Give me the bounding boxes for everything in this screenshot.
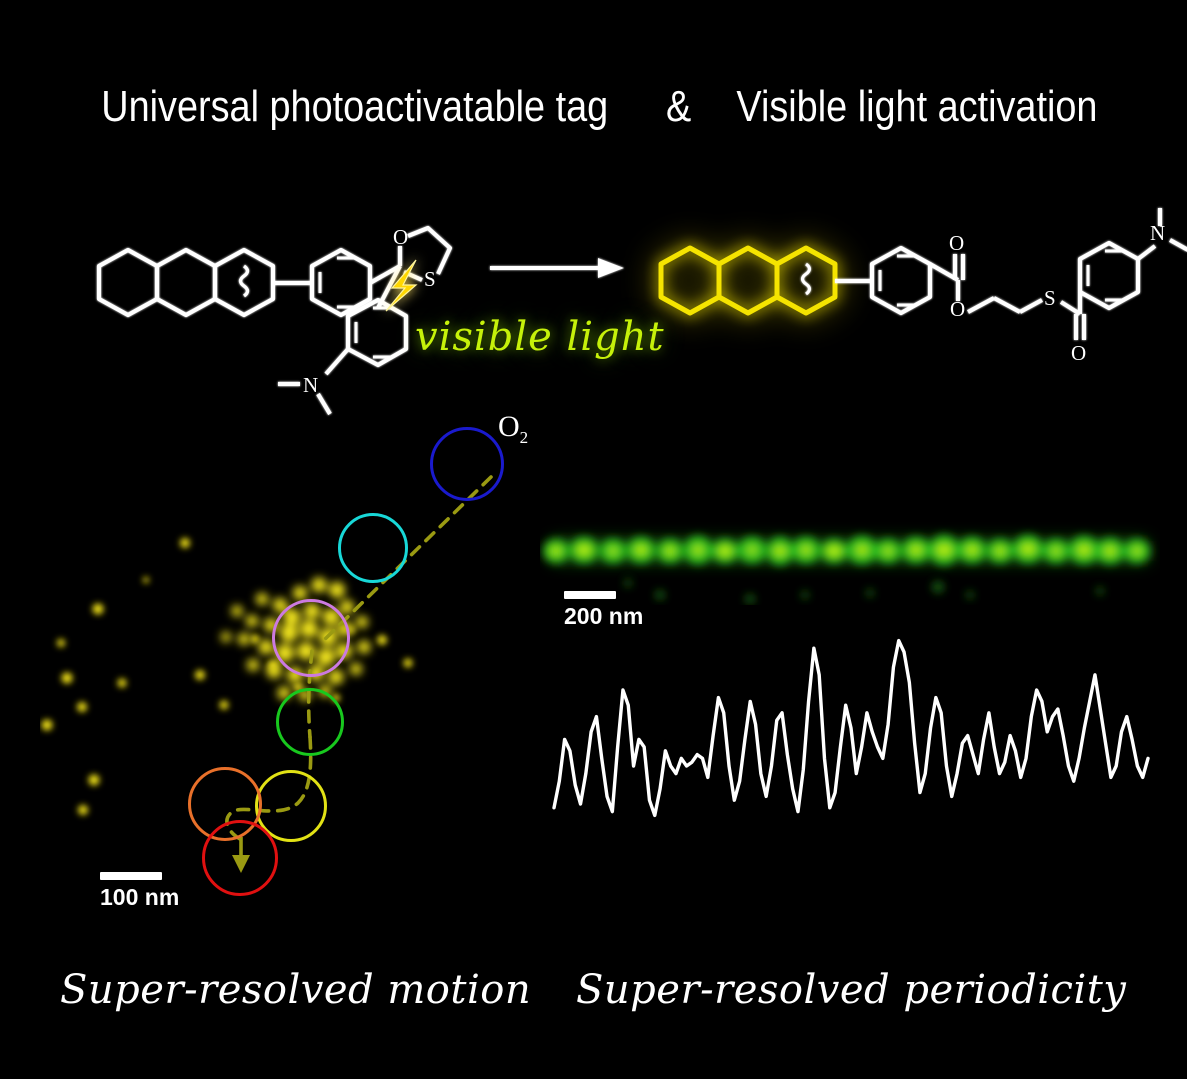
figure-canvas: Universal photoactivatable tag&Visible l… bbox=[0, 0, 1187, 1079]
title-ampersand: & bbox=[654, 82, 703, 132]
reactant-structure bbox=[99, 228, 450, 414]
reactant-atom-N: N bbox=[303, 373, 318, 397]
single-molecule-tracking-panel: 100 nm bbox=[40, 425, 580, 935]
circle-green[interactable] bbox=[276, 688, 344, 756]
product-atom-S: S bbox=[1044, 286, 1056, 310]
filament-background-specks bbox=[624, 579, 1104, 604]
circle-blue[interactable] bbox=[430, 427, 504, 501]
scalebar-100nm: 100 nm bbox=[100, 872, 179, 911]
circle-violet[interactable] bbox=[272, 599, 350, 677]
product-atom-O-carbonyl: O bbox=[949, 231, 964, 255]
figure-title: Universal photoactivatable tag&Visible l… bbox=[0, 82, 1187, 132]
filament-svg bbox=[540, 495, 1160, 605]
product-structure bbox=[835, 208, 1187, 340]
product-atom-N: N bbox=[1150, 221, 1165, 245]
caption-right: Super-resolved periodicity bbox=[576, 967, 1126, 1013]
intensity-line-profile bbox=[540, 625, 1160, 835]
circle-cyan[interactable] bbox=[338, 513, 408, 583]
scalebar-bar bbox=[564, 591, 616, 599]
reaction-scheme-svg: O S N bbox=[0, 188, 1187, 438]
green-periodic-filament: 200 nm bbox=[540, 495, 1160, 605]
intensity-trace-line bbox=[554, 641, 1148, 816]
reactant-atom-O: O bbox=[393, 225, 408, 249]
intensity-trace-svg bbox=[540, 625, 1160, 835]
product-atom-O-thioester: O bbox=[1071, 341, 1086, 365]
circle-red[interactable] bbox=[202, 820, 278, 896]
reaction-scheme: O S N bbox=[0, 188, 1187, 438]
tracking-overlay-svg bbox=[40, 425, 580, 935]
product-atom-O-ester: O bbox=[950, 297, 965, 321]
periodicity-panel: 200 nm bbox=[540, 495, 1160, 835]
title-part-left: Universal photoactivatable tag bbox=[101, 82, 608, 132]
scalebar-bar bbox=[100, 872, 162, 880]
visible-light-label: visible light bbox=[415, 314, 665, 360]
scalebar-label: 100 nm bbox=[100, 884, 179, 911]
reaction-arrow-right bbox=[490, 258, 624, 278]
reactant-atom-S: S bbox=[424, 267, 436, 291]
product-anthracene bbox=[661, 248, 835, 313]
product-squiggle-bond bbox=[803, 264, 810, 294]
title-part-right: Visible light activation bbox=[736, 82, 1097, 132]
caption-left: Super-resolved motion bbox=[60, 967, 531, 1013]
